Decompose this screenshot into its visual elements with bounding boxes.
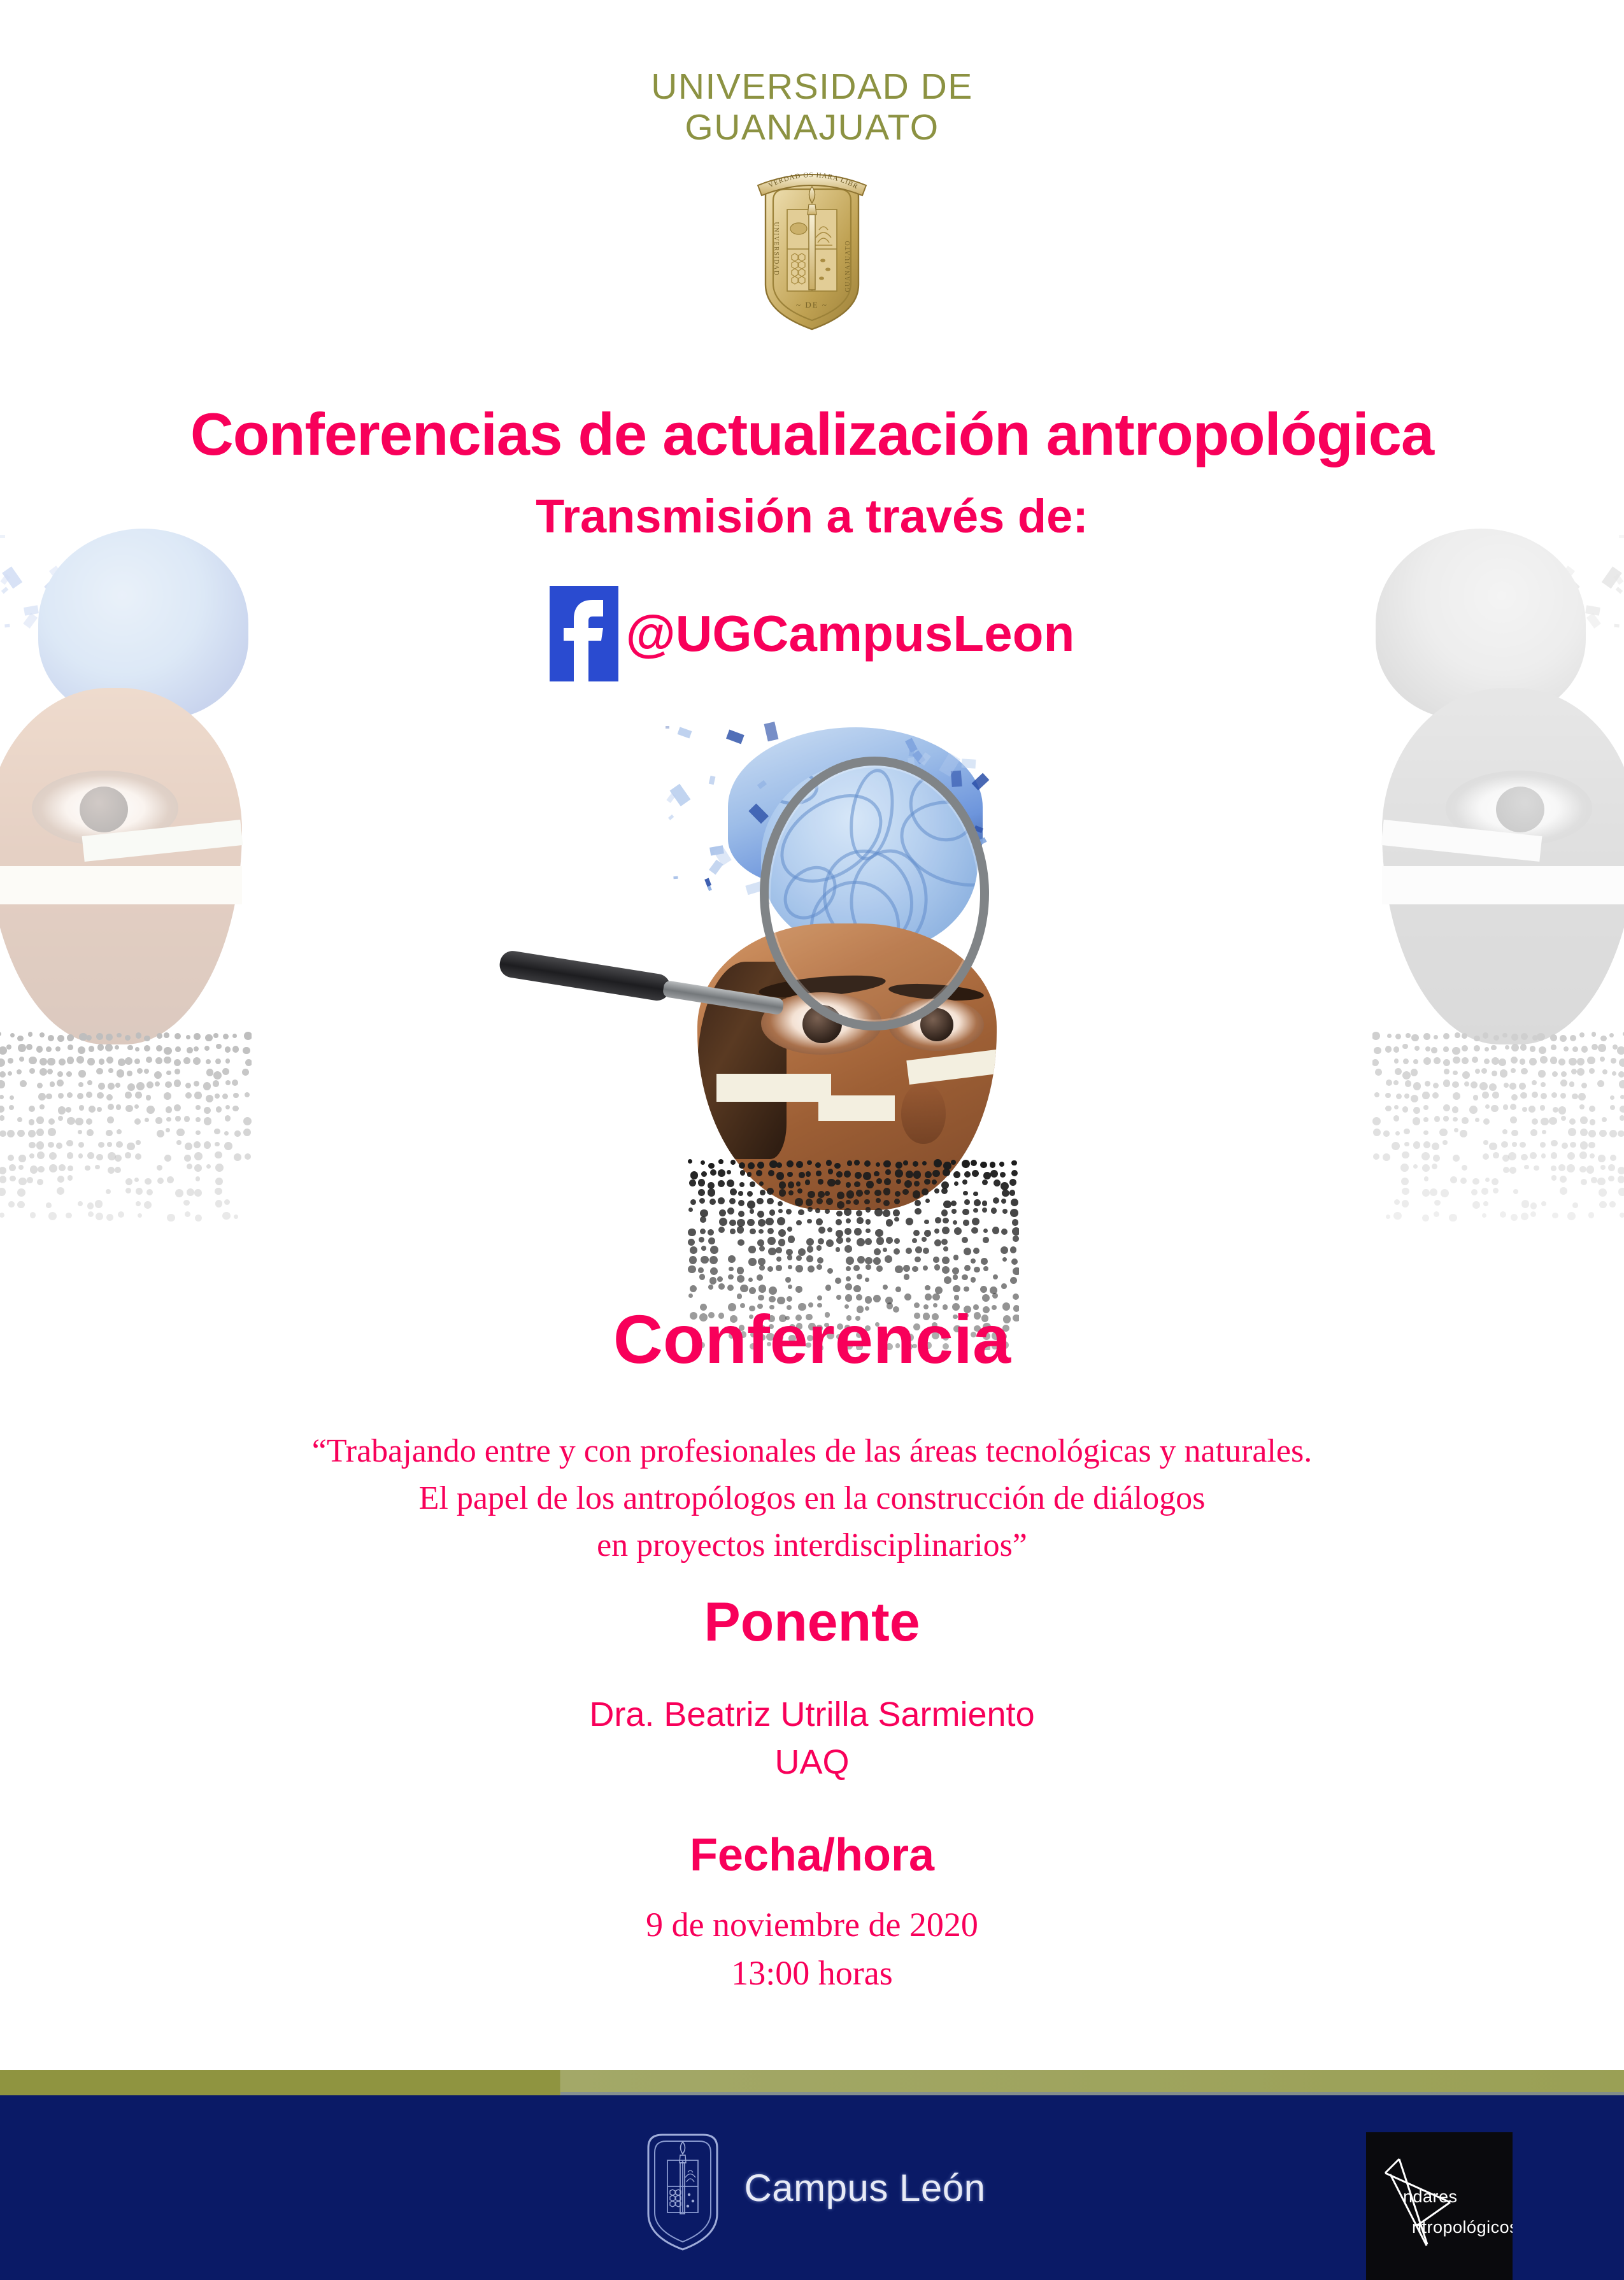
beard-dot xyxy=(1578,1093,1586,1101)
beard-dot xyxy=(974,1267,979,1272)
beard-dot xyxy=(924,1230,931,1237)
beard-dot xyxy=(836,1219,843,1226)
beard-dot xyxy=(913,1171,922,1179)
beard-dot xyxy=(1561,1071,1567,1077)
beard-dot xyxy=(155,1117,162,1124)
beard-dot xyxy=(857,1256,865,1264)
beard-dot xyxy=(690,1171,698,1179)
shard xyxy=(764,722,778,742)
beard-dot xyxy=(1430,1188,1437,1196)
beard-dot xyxy=(836,1247,840,1251)
beard-dot xyxy=(776,1162,782,1168)
beard-dot xyxy=(729,1198,736,1204)
beard-dot xyxy=(806,1171,811,1177)
beard-dot xyxy=(894,1248,900,1255)
beard-dot xyxy=(175,1189,183,1197)
beard-dot xyxy=(864,1190,869,1195)
beard-dot xyxy=(1608,1164,1616,1172)
beard-dot xyxy=(1002,1257,1008,1262)
beard-dot xyxy=(245,1153,251,1160)
beard-dot xyxy=(973,1208,978,1213)
beard-dot xyxy=(1530,1129,1537,1136)
eye-watermark xyxy=(32,771,178,846)
beard-dot xyxy=(827,1179,835,1186)
beard-dot xyxy=(1425,1046,1431,1052)
poster-header: UNIVERSIDAD DE GUANAJUATO xyxy=(0,67,1624,338)
beard-dot xyxy=(1502,1155,1509,1162)
beard-dot xyxy=(224,1199,230,1205)
beard-dot xyxy=(17,1069,22,1074)
beard-dot xyxy=(78,1201,83,1206)
beard-dot xyxy=(135,1047,139,1051)
beard-dot xyxy=(0,1188,6,1195)
shard xyxy=(132,546,138,556)
shard xyxy=(1486,546,1492,556)
beard-dot xyxy=(1590,1119,1596,1125)
beard-dot xyxy=(17,1036,24,1042)
beard-dot xyxy=(865,1229,871,1234)
beard-dot xyxy=(796,1255,802,1261)
facebook-handle[interactable]: @UGCampusLeon xyxy=(626,608,1075,659)
beard-dot xyxy=(0,1176,6,1183)
beard-dot xyxy=(951,1160,956,1165)
beard-dot xyxy=(1579,1104,1584,1109)
beard-dot xyxy=(796,1181,801,1186)
beard-dot xyxy=(990,1170,998,1178)
beard-dot xyxy=(767,1266,773,1272)
beard-dot xyxy=(39,1058,47,1065)
beard-dot xyxy=(1385,1046,1392,1053)
beard-dot xyxy=(58,1093,64,1099)
shard xyxy=(905,738,918,753)
beard-dot xyxy=(46,1094,52,1099)
beard-dot xyxy=(106,1130,113,1137)
beard-dot xyxy=(815,1162,821,1168)
beard-dot xyxy=(224,1131,229,1136)
beard-dot xyxy=(66,1107,71,1113)
beard-dot xyxy=(194,1046,199,1052)
beard-dot xyxy=(1394,1199,1400,1205)
beard-dot xyxy=(846,1200,850,1204)
beard-dot xyxy=(175,1069,180,1074)
beard-dot xyxy=(17,1130,24,1137)
beard-dot xyxy=(1401,1178,1409,1185)
beard-dot xyxy=(688,1265,696,1274)
beard-dot xyxy=(913,1230,920,1236)
beard-dot xyxy=(767,1198,774,1205)
beard-dot xyxy=(834,1163,841,1169)
face-paint-band-right xyxy=(906,1049,997,1085)
beard-dot xyxy=(243,1117,252,1125)
beard-dot xyxy=(1509,1083,1516,1090)
beard-dot xyxy=(213,1080,220,1087)
beard-dot xyxy=(808,1207,813,1212)
beard-dot xyxy=(786,1209,792,1215)
beard-dot xyxy=(1602,1069,1607,1074)
beard-dot xyxy=(1432,1092,1439,1099)
beard-dot xyxy=(971,1227,978,1234)
beard-dot xyxy=(1511,1044,1519,1051)
beard-dot xyxy=(778,1229,786,1237)
beard-dot xyxy=(827,1268,834,1274)
beard-dot xyxy=(846,1182,851,1188)
beard-dot xyxy=(828,1169,833,1174)
beard-dot xyxy=(847,1160,853,1166)
beard-dot xyxy=(785,1277,791,1283)
beard-dot xyxy=(748,1162,755,1169)
beard-dot xyxy=(1569,1058,1577,1066)
beard-dot xyxy=(1532,1092,1539,1099)
beard-dot xyxy=(1532,1035,1538,1041)
beard-dot xyxy=(709,1277,717,1285)
beard-dot xyxy=(1010,1246,1017,1253)
shard xyxy=(1564,566,1575,576)
beard-dot xyxy=(895,1286,901,1292)
beard-dot xyxy=(48,1142,53,1148)
beard-dot xyxy=(846,1190,855,1199)
beard-dot xyxy=(1483,1153,1489,1160)
beard-dot xyxy=(727,1208,734,1215)
beard-dot xyxy=(787,1160,794,1168)
beard-dot xyxy=(215,1164,224,1172)
beard-dot xyxy=(914,1181,920,1186)
beard-dot xyxy=(818,1238,824,1244)
beard-dot xyxy=(788,1265,792,1269)
beard-dot xyxy=(1580,1116,1587,1123)
beard-dot xyxy=(750,1209,755,1214)
beard-dot xyxy=(816,1218,823,1225)
beard-dot xyxy=(1433,1155,1440,1162)
beard-dot xyxy=(698,1267,703,1272)
beard-dot xyxy=(779,1181,787,1189)
beard-dot xyxy=(1452,1106,1459,1113)
shard xyxy=(164,561,182,578)
beard-dot xyxy=(895,1265,903,1274)
beard-dot xyxy=(115,1167,121,1173)
beard-dot xyxy=(66,1140,73,1146)
beard-dot xyxy=(865,1219,871,1224)
beard-dot xyxy=(0,1115,4,1120)
beard-dot xyxy=(166,1117,171,1122)
beard-dot xyxy=(1374,1047,1381,1054)
beard-dot xyxy=(1471,1189,1478,1195)
beard-dot xyxy=(1492,1178,1499,1185)
beard-dot xyxy=(750,1229,755,1234)
pupil-watermark xyxy=(1496,787,1544,832)
beard-dot xyxy=(795,1198,802,1206)
beard-dot xyxy=(836,1211,843,1217)
beard-dot xyxy=(1539,1070,1546,1077)
beard-dot xyxy=(6,1044,11,1050)
beard-dot xyxy=(934,1239,941,1246)
beard-dot xyxy=(87,1202,94,1209)
beard-dot xyxy=(58,1106,66,1115)
beard-dot xyxy=(232,1106,238,1111)
beard-dot xyxy=(836,1237,844,1244)
beard-dot xyxy=(174,1059,181,1066)
beard-dot xyxy=(865,1238,872,1245)
beard-dot xyxy=(826,1160,832,1166)
beard-dot xyxy=(78,1046,85,1054)
shard xyxy=(666,726,669,729)
ug-crest-icon xyxy=(638,2121,727,2255)
beard-dot xyxy=(28,1130,36,1137)
beard-dot xyxy=(1402,1106,1409,1113)
beard-dot xyxy=(759,1229,764,1234)
beard-dot xyxy=(1483,1140,1488,1145)
beard-dot xyxy=(1462,1033,1467,1039)
beard-dot xyxy=(1493,1152,1499,1158)
beard-dot xyxy=(117,1069,124,1077)
beard-dot xyxy=(993,1197,999,1204)
beard-dot xyxy=(37,1179,43,1185)
beard-dot xyxy=(1500,1069,1507,1077)
beard-dot xyxy=(1610,1095,1614,1100)
shard xyxy=(111,567,131,581)
beard-dot xyxy=(1510,1104,1516,1110)
facebook-f-icon[interactable] xyxy=(550,586,618,681)
shard xyxy=(1614,573,1624,584)
beard-dot xyxy=(1392,1142,1400,1150)
beard-dot xyxy=(1528,1106,1535,1113)
beard-dot xyxy=(1521,1200,1530,1208)
beard-dot xyxy=(718,1180,725,1187)
face-watermark xyxy=(1382,688,1624,1044)
beard-dot xyxy=(865,1264,871,1270)
speaker-name: Dra. Beatriz Utrilla Sarmiento xyxy=(0,1691,1624,1739)
beard-dot xyxy=(1479,1082,1488,1090)
beard-dot xyxy=(759,1246,765,1251)
beard-dot xyxy=(708,1285,713,1290)
beard-dot xyxy=(894,1238,900,1244)
nose xyxy=(901,1083,946,1144)
beard-dot xyxy=(818,1179,823,1185)
beard-dot xyxy=(146,1057,152,1063)
beard-dot xyxy=(1589,1106,1595,1112)
beard-dot xyxy=(0,1130,6,1137)
beard-dot xyxy=(738,1200,744,1206)
beard-dot xyxy=(854,1228,862,1236)
beard-dot xyxy=(717,1276,723,1282)
beard-dot xyxy=(57,1187,64,1195)
beard-dot xyxy=(222,1068,229,1075)
beard-dot xyxy=(688,1208,693,1212)
beard-dot xyxy=(1001,1283,1007,1289)
beard-dot xyxy=(98,1142,104,1148)
beard-dot xyxy=(1443,1033,1449,1039)
beard-dot xyxy=(768,1170,774,1176)
collage-illustration xyxy=(474,713,1150,1248)
beard-dot xyxy=(982,1208,987,1213)
beard-dot xyxy=(943,1218,949,1224)
beard-dot xyxy=(1599,1130,1606,1137)
university-name-line1: UNIVERSIDAD DE xyxy=(0,67,1624,108)
beard-dot xyxy=(144,1069,149,1074)
beard-dot xyxy=(1572,1046,1578,1052)
beard-dot xyxy=(951,1209,956,1213)
beard-dot xyxy=(1549,1117,1557,1125)
poster-subtitle: Transmisión a través de: xyxy=(0,489,1624,543)
beard-dot xyxy=(874,1171,880,1177)
beard-dot xyxy=(690,1285,697,1292)
beard-dot xyxy=(86,1035,92,1041)
beard-dot xyxy=(204,1046,210,1051)
beard-dot xyxy=(816,1264,822,1270)
beard-dot xyxy=(689,1256,697,1264)
beard-dot xyxy=(835,1179,841,1185)
beard-dot xyxy=(68,1175,73,1181)
beard-dot xyxy=(46,1046,52,1052)
beard-dot xyxy=(805,1179,810,1185)
beard-dot xyxy=(1453,1092,1460,1100)
beard-dot xyxy=(980,1286,987,1293)
beard-dot xyxy=(1422,1189,1430,1197)
beard-dot xyxy=(1618,1130,1624,1137)
beard-dot xyxy=(1608,1176,1614,1181)
beard-dot xyxy=(844,1208,851,1215)
beard-dot xyxy=(1453,1071,1457,1075)
beard-dot xyxy=(195,1215,203,1222)
beard-dot xyxy=(767,1188,774,1195)
beard-dot xyxy=(1484,1058,1490,1064)
beard-dot xyxy=(788,1190,794,1195)
beard-dot xyxy=(806,1199,813,1206)
beard-dot xyxy=(136,1082,145,1090)
beard-dot xyxy=(1505,1045,1509,1050)
beard-dot xyxy=(883,1209,890,1217)
beard-dot xyxy=(157,1130,164,1137)
beard-dot xyxy=(760,1190,766,1195)
beard-dot xyxy=(66,1071,72,1077)
beard-dot xyxy=(728,1274,734,1280)
beard-dot xyxy=(1552,1213,1558,1219)
beard-dot xyxy=(688,1293,693,1298)
beard-dot xyxy=(963,1220,969,1225)
beard-dot xyxy=(983,1229,988,1233)
beard-dot xyxy=(750,1181,755,1187)
beard-dot xyxy=(1530,1046,1536,1052)
beard-dot xyxy=(994,1179,1001,1187)
beard-dot xyxy=(701,1246,706,1251)
beard-dot xyxy=(1423,1057,1431,1065)
beard-dot xyxy=(991,1208,997,1214)
beard-dot xyxy=(729,1267,734,1272)
beard-dot xyxy=(883,1285,888,1290)
beard-dot xyxy=(155,1057,162,1064)
beard-dot xyxy=(1598,1044,1606,1052)
beard-dot xyxy=(174,1079,182,1087)
beard-dot xyxy=(1472,1201,1480,1209)
beard-dot xyxy=(68,1044,73,1050)
beard-dot xyxy=(710,1246,718,1254)
beard-dot xyxy=(1372,1059,1379,1067)
beard-dot xyxy=(701,1160,705,1165)
dotted-beard-watermark xyxy=(1372,1032,1624,1223)
beard-dot xyxy=(0,1167,6,1174)
beard-dot xyxy=(1493,1188,1499,1193)
beard-dot xyxy=(934,1159,942,1167)
beard-dot xyxy=(215,1188,222,1195)
beard-dot xyxy=(853,1285,860,1292)
beard-dot xyxy=(7,1130,15,1137)
beard-dot xyxy=(1618,1071,1624,1078)
beard-dot xyxy=(730,1229,736,1234)
beard-dot xyxy=(78,1153,83,1158)
beard-dot xyxy=(798,1209,804,1216)
beard-dot xyxy=(1482,1213,1487,1218)
beard-dot xyxy=(1011,1170,1018,1176)
beard-dot xyxy=(1577,1058,1585,1065)
beard-dot xyxy=(816,1171,821,1176)
beard-dot xyxy=(1598,1155,1605,1162)
beard-dot xyxy=(95,1165,100,1170)
beard-dot xyxy=(922,1237,927,1242)
beard-dot xyxy=(166,1128,170,1132)
beard-dot xyxy=(953,1255,959,1260)
beard-dot xyxy=(1374,1092,1379,1097)
beard-dot xyxy=(154,1071,162,1079)
beard-dot xyxy=(934,1188,939,1193)
beard-dot xyxy=(37,1083,43,1088)
beard-dot xyxy=(1423,1141,1430,1148)
beard-dot xyxy=(1013,1267,1019,1275)
beard-dot xyxy=(689,1179,696,1186)
beard-dot xyxy=(788,1236,795,1243)
beard-dot xyxy=(757,1162,764,1169)
eye-watermark xyxy=(1446,771,1592,846)
beard-dot xyxy=(1002,1190,1009,1197)
beard-dot xyxy=(106,1189,111,1194)
beard-dot xyxy=(935,1217,941,1223)
beard-dot xyxy=(108,1152,116,1160)
beard-dot xyxy=(146,1081,153,1088)
beard-dot xyxy=(29,1106,35,1112)
beard-dot xyxy=(30,1165,38,1174)
beard-dot xyxy=(737,1275,744,1283)
beard-dot xyxy=(1483,1032,1489,1039)
beard-dot xyxy=(144,1201,152,1209)
beard-dot xyxy=(156,1045,162,1051)
beard-dot xyxy=(58,1116,63,1121)
beard-dot xyxy=(1551,1092,1557,1098)
beard-dot xyxy=(39,1104,44,1109)
beard-dot xyxy=(885,1255,892,1263)
beard-dot xyxy=(8,1201,15,1208)
beard-dot xyxy=(787,1227,792,1232)
beard-dot xyxy=(993,1274,999,1280)
beard-dot xyxy=(688,1239,695,1246)
beard-dot xyxy=(1560,1079,1567,1087)
beard-dot xyxy=(135,1153,141,1160)
dotted-beard-watermark xyxy=(0,1032,252,1223)
beard-dot xyxy=(990,1162,995,1167)
beard-dot xyxy=(18,1044,26,1052)
beard-dot xyxy=(134,1118,141,1125)
beard-dot xyxy=(164,1092,171,1100)
beard-dot xyxy=(86,1092,93,1099)
beard-dot xyxy=(234,1215,238,1219)
beard-dot xyxy=(1529,1058,1537,1065)
beard-dot xyxy=(699,1237,705,1243)
beard-dot xyxy=(1009,1190,1015,1195)
beard-dot xyxy=(39,1032,45,1037)
section-label-ponente: Ponente xyxy=(0,1591,1624,1654)
beard-dot xyxy=(243,1129,251,1136)
beard-dot xyxy=(1402,1044,1407,1049)
beard-dot xyxy=(757,1198,764,1205)
beard-dot xyxy=(701,1171,708,1178)
beard-dot xyxy=(1537,1033,1545,1041)
